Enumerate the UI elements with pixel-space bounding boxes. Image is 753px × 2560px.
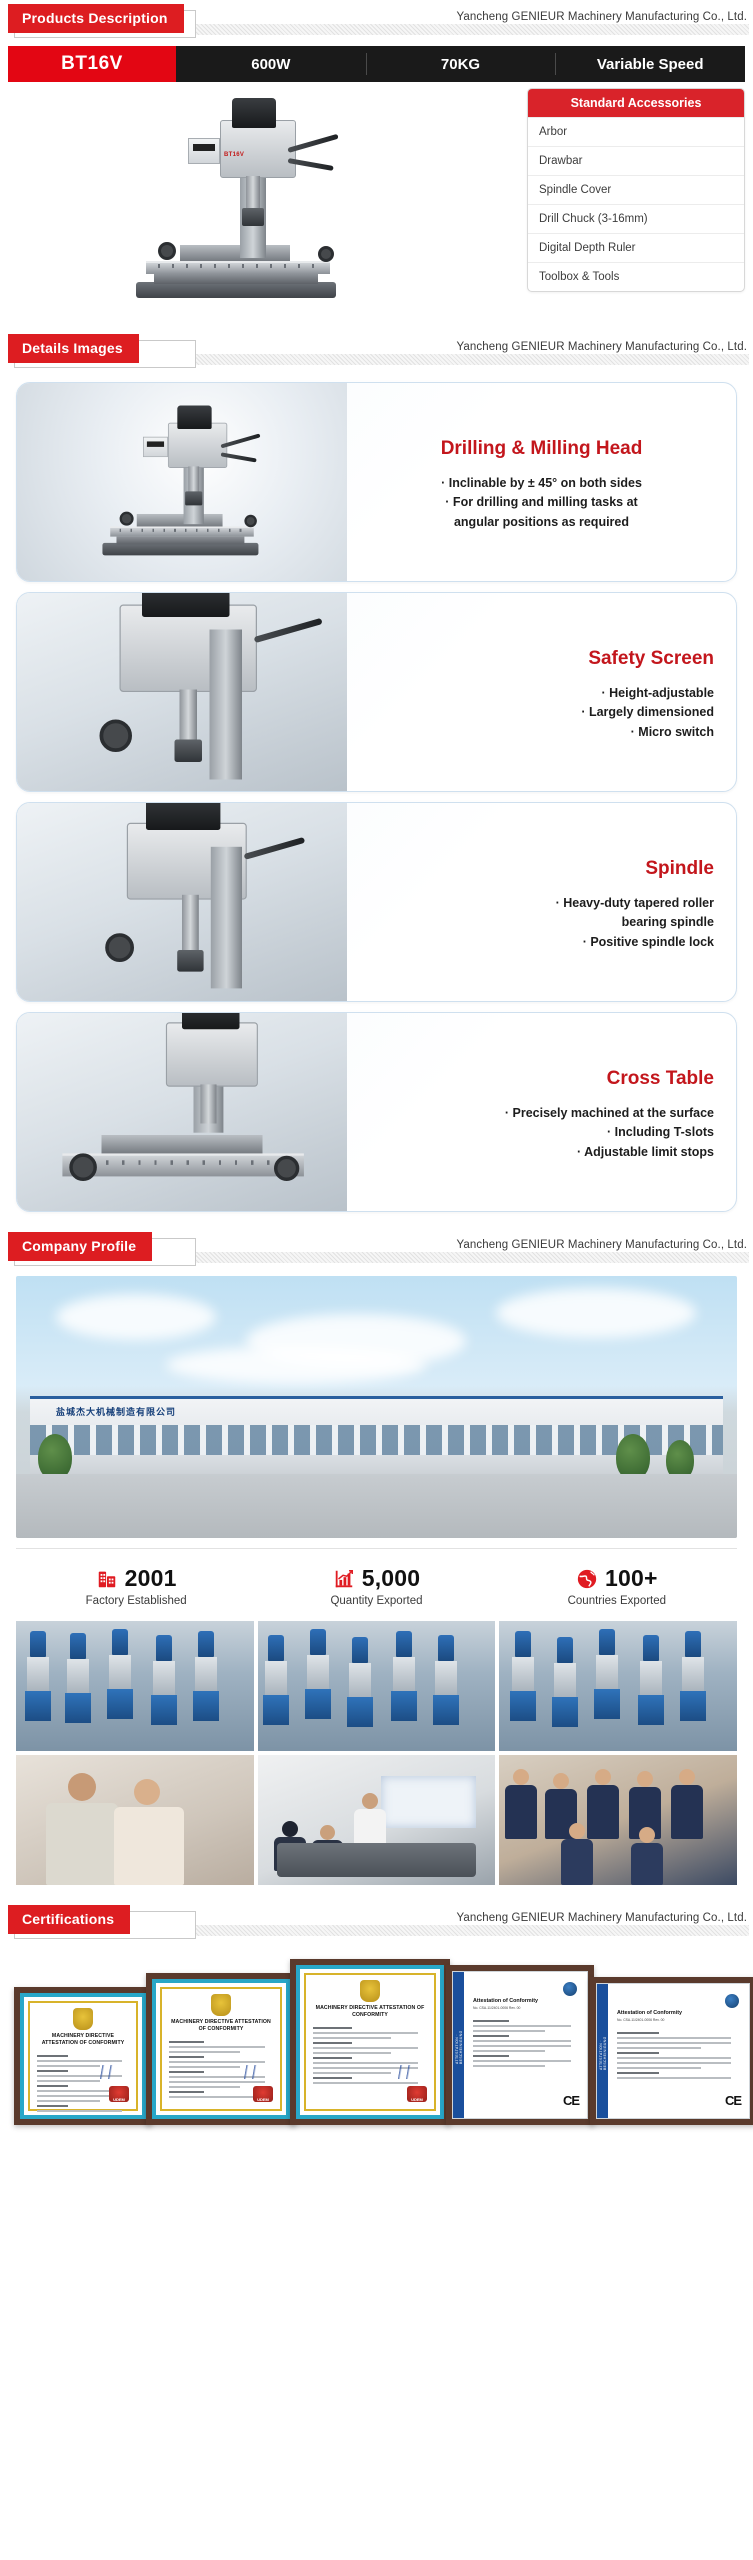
certificate-machinery-directive-2: MACHINERY DIRECTIVE ATTESTATION OF CONFO… — [146, 1973, 296, 2125]
certificate-subtitle: No. CSA-11/2401-0006 Rev. 00 — [617, 2018, 664, 2022]
machine-quill — [246, 176, 260, 212]
spec-cells: 600W 70KG Variable Speed — [176, 46, 745, 82]
certificate-machinery-directive-1: MACHINERY DIRECTIVE ATTESTATION OF CONFO… — [14, 1987, 152, 2125]
feature-bullet: · Adjustable limit stops — [369, 1143, 714, 1162]
certificates-gallery: MACHINERY DIRECTIVE ATTESTATION OF CONFO… — [10, 1951, 743, 2129]
gallery-photo-factory-production-line-1 — [16, 1621, 254, 1751]
company-stats: 2001 Factory Established 5,000 Quantity … — [16, 1548, 737, 1607]
machine-brand-label: BT16V — [224, 152, 244, 158]
feature-bullet: · Positive spindle lock — [369, 933, 714, 952]
feature-title: Spindle — [369, 858, 714, 880]
stat-label: Countries Exported — [497, 1595, 737, 1607]
section-title: Details Images — [8, 334, 139, 363]
feature-bullet: · Including T-slots — [369, 1123, 714, 1142]
machine-motor — [232, 98, 276, 128]
projector-screen — [381, 1776, 476, 1828]
hatch-decoration — [190, 24, 749, 35]
feature-bullet: · Height-adjustable — [369, 684, 714, 703]
hatch-decoration — [190, 1252, 749, 1263]
gallery-photo-team-meeting-presentation — [258, 1755, 496, 1885]
accessory-row: Digital Depth Ruler — [528, 233, 744, 262]
safety-screen-closeup — [45, 593, 320, 791]
feature-photo-drilling-milling-head — [17, 383, 347, 581]
feature-bullet: · For drilling and milling tasks at — [369, 493, 714, 512]
accessory-row: Drawbar — [528, 146, 744, 175]
factory-exterior-photo: 盐城杰大机械制造有限公司 — [16, 1276, 737, 1538]
standard-accessories-table: Standard Accessories Arbor Drawbar Spind… — [527, 88, 745, 292]
section-title: Company Profile — [8, 1232, 152, 1261]
accessory-row: Toolbox & Tools — [528, 262, 744, 291]
certificate-sidebar: ATTESTATION · BESCHEINIGUNG — [453, 1972, 464, 2118]
certificate-title: MACHINERY DIRECTIVE ATTESTATION OF CONFO… — [168, 2019, 274, 2032]
machine-control-panel — [188, 138, 220, 164]
feature-photo-spindle — [17, 803, 347, 1001]
feature-card-drilling-milling-head: Drilling & Milling Head · Inclinable by … — [16, 382, 737, 582]
vdeh-bull-emblem — [211, 1994, 231, 2016]
stat-value: 2001 — [125, 1565, 177, 1592]
stat-quantity-exported: 5,000 Quantity Exported — [256, 1565, 496, 1607]
feature-title: Drilling & Milling Head — [369, 438, 714, 460]
machine-drill-chuck — [242, 208, 264, 226]
cross-table-closeup — [56, 1013, 309, 1211]
hero-area: BT16V Standard Accessories Arbor Drawbar… — [8, 88, 745, 316]
certificate-machinery-directive-3: MACHINERY DIRECTIVE ATTESTATION OF CONFO… — [290, 1959, 450, 2125]
udem-logo: UDEM — [407, 2086, 427, 2102]
section-header-company-profile: Company Profile Yancheng GENIEUR Machine… — [0, 1228, 753, 1270]
accessory-row: Spindle Cover — [528, 175, 744, 204]
machine-closeup-illustration — [96, 404, 268, 560]
gallery-photo-trade-show-customers — [16, 1755, 254, 1885]
machine-head — [220, 120, 296, 178]
signature — [86, 2065, 124, 2079]
accessories-title: Standard Accessories — [528, 89, 744, 117]
gallery-photo-factory-production-line-2 — [258, 1621, 496, 1751]
stat-value: 100+ — [605, 1565, 658, 1592]
spec-model: BT16V — [8, 46, 176, 82]
vdeh-bull-emblem — [73, 2008, 93, 2030]
factory-sign: 盐城杰大机械制造有限公司 — [56, 1405, 176, 1418]
cloud — [56, 1294, 216, 1340]
product-photo: BT16V — [8, 88, 527, 316]
company-name: Yancheng GENIEUR Machinery Manufacturing… — [456, 341, 747, 353]
ce-mark: CE — [725, 2093, 741, 2108]
certificate-sidebar: ATTESTATION · BESCHEINIGUNG — [597, 1984, 608, 2118]
signature — [384, 2065, 422, 2079]
spec-power: 600W — [176, 46, 366, 82]
feature-bullet: bearing spindle — [369, 913, 714, 932]
certificate-subtitle: No. CSA-11/2401-0006 Rev. 00 — [473, 2006, 520, 2010]
spec-bar: BT16V 600W 70KG Variable Speed — [8, 46, 745, 82]
certificate-title: MACHINERY DIRECTIVE ATTESTATION OF CONFO… — [312, 2005, 428, 2018]
stat-factory-established: 2001 Factory Established — [16, 1565, 256, 1607]
feature-title: Cross Table — [369, 1068, 714, 1090]
spec-weight: 70KG — [366, 46, 556, 82]
accessory-row: Drill Chuck (3-16mm) — [528, 204, 744, 233]
section-title: Certifications — [8, 1905, 130, 1934]
certificate-title: Attestation of Conformity — [617, 2010, 682, 2016]
feature-text: Safety Screen · Height-adjustable · Larg… — [347, 593, 736, 791]
certificate-title: Attestation of Conformity — [473, 1998, 538, 2004]
globe-icon — [576, 1568, 598, 1590]
meeting-table — [277, 1843, 477, 1877]
building-icon — [96, 1568, 118, 1590]
feature-photo-safety-screen — [17, 593, 347, 791]
feature-bullet: · Micro switch — [369, 723, 714, 742]
machine-handwheel-right — [318, 246, 334, 262]
feature-title: Safety Screen — [369, 648, 714, 670]
feature-card-safety-screen: Safety Screen · Height-adjustable · Larg… — [16, 592, 737, 792]
feature-text: Spindle · Heavy-duty tapered roller bear… — [347, 803, 736, 1001]
signature — [230, 2065, 268, 2079]
section-header-details-images: Details Images Yancheng GENIEUR Machiner… — [0, 330, 753, 372]
certificate-attestation-conformity-2: ATTESTATION · BESCHEINIGUNG Attestation … — [590, 1977, 753, 2125]
machine-saddle — [180, 245, 290, 261]
certificate-title: MACHINERY DIRECTIVE ATTESTATION OF CONFO… — [36, 2033, 130, 2046]
gallery-photo-team-group-photo — [499, 1755, 737, 1885]
company-name: Yancheng GENIEUR Machinery Manufacturing… — [456, 1239, 747, 1251]
machine-base — [136, 282, 336, 298]
feature-bullet: · Inclinable by ± 45° on both sides — [369, 474, 714, 493]
stat-label: Factory Established — [16, 1595, 256, 1607]
hatch-decoration — [190, 1925, 749, 1936]
stat-value: 5,000 — [362, 1565, 421, 1592]
tuv-seal-icon — [563, 1982, 577, 1996]
spec-speed: Variable Speed — [555, 46, 745, 82]
vdeh-bull-emblem — [360, 1980, 380, 2002]
feature-bullet: · Heavy-duty tapered roller — [369, 894, 714, 913]
certificate-body-lines — [473, 2020, 579, 2088]
cloud — [496, 1288, 696, 1338]
ground-pavement — [16, 1474, 737, 1538]
udem-logo: UDEM — [253, 2086, 273, 2102]
udem-logo: UDEM — [109, 2086, 129, 2102]
certificate-attestation-conformity-1: ATTESTATION · BESCHEINIGUNG Attestation … — [446, 1965, 594, 2125]
company-name: Yancheng GENIEUR Machinery Manufacturing… — [456, 1912, 747, 1924]
feature-bullet: · Largely dimensioned — [369, 703, 714, 722]
company-photo-gallery — [16, 1621, 737, 1885]
machine-base-upper — [154, 274, 318, 284]
feature-bullet: angular positions as required — [369, 513, 714, 532]
section-header-certifications: Certifications Yancheng GENIEUR Machiner… — [0, 1901, 753, 1943]
stat-countries-exported: 100+ Countries Exported — [497, 1565, 737, 1607]
tuv-seal-icon — [725, 1994, 739, 2008]
spindle-closeup — [50, 803, 314, 1001]
section-header-products-description: Products Description Yancheng GENIEUR Ma… — [0, 0, 753, 42]
certificate-body-lines — [617, 2032, 741, 2088]
cloud — [166, 1346, 426, 1384]
accessory-row: Arbor — [528, 117, 744, 146]
machine-handwheel-left — [158, 242, 176, 260]
section-title: Products Description — [8, 4, 184, 33]
gallery-photo-factory-production-line-3 — [499, 1621, 737, 1751]
feature-bullet: · Precisely machined at the surface — [369, 1104, 714, 1123]
feature-card-cross-table: Cross Table · Precisely machined at the … — [16, 1012, 737, 1212]
feature-text: Drilling & Milling Head · Inclinable by … — [347, 383, 736, 581]
ce-mark: CE — [563, 2093, 579, 2108]
feature-text: Cross Table · Precisely machined at the … — [347, 1013, 736, 1211]
feature-card-spindle: Spindle · Heavy-duty tapered roller bear… — [16, 802, 737, 1002]
milling-machine-illustration: BT16V — [128, 96, 348, 304]
product-detail-page: Products Description Yancheng GENIEUR Ma… — [0, 0, 753, 2129]
stat-label: Quantity Exported — [256, 1595, 496, 1607]
feature-photo-cross-table — [17, 1013, 347, 1211]
growth-chart-icon — [333, 1568, 355, 1590]
hatch-decoration — [190, 354, 749, 365]
machine-t-slots — [158, 264, 318, 268]
company-name: Yancheng GENIEUR Machinery Manufacturing… — [456, 11, 747, 23]
